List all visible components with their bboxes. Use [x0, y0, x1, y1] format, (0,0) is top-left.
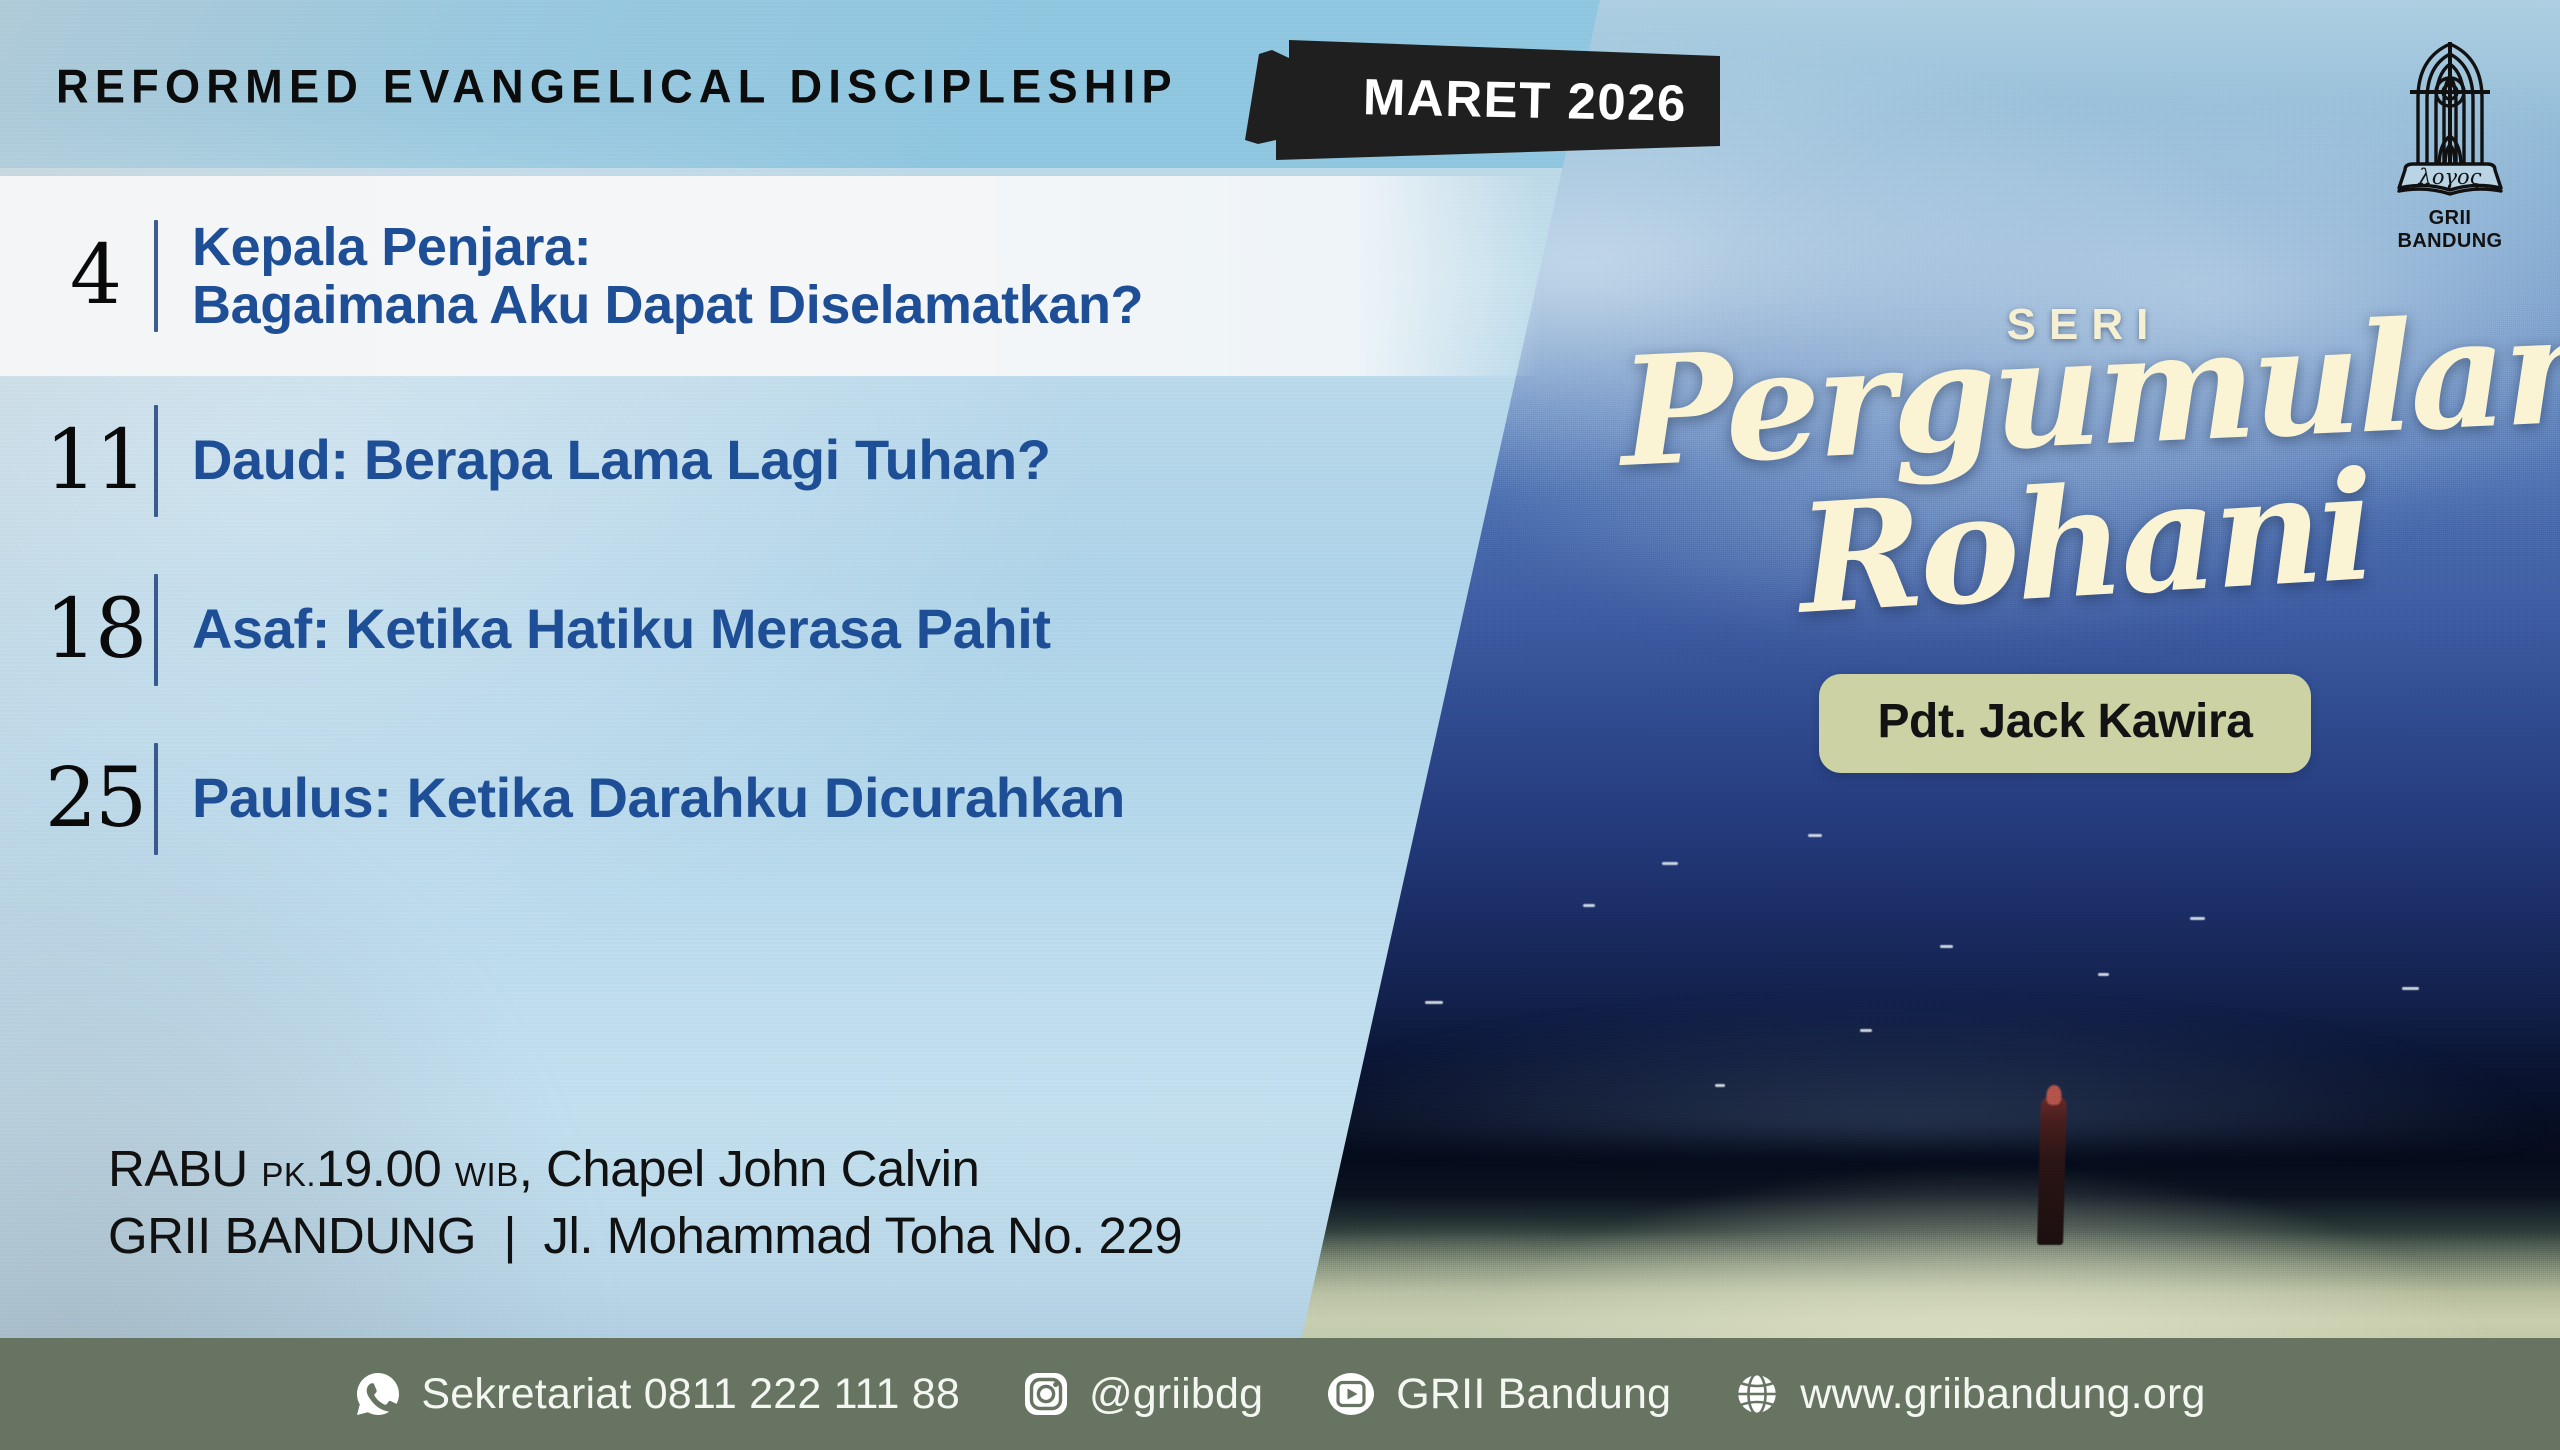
- footer-label: GRII Bandung: [1396, 1370, 1671, 1419]
- venue-day: RABU: [108, 1140, 248, 1197]
- row-divider: [154, 574, 158, 686]
- footer-item-website[interactable]: www.griibandung.org: [1733, 1370, 2205, 1419]
- schedule-title-rest: Ketika Hatiku Merasa Pahit: [330, 597, 1051, 660]
- logo-caption: GRII BANDUNG: [2376, 207, 2524, 253]
- schedule-row[interactable]: 18 Asaf: Ketika Hatiku Merasa Pahit: [0, 545, 1540, 714]
- venue-time: 19.00: [316, 1140, 441, 1197]
- footer-label: www.griibandung.org: [1800, 1370, 2205, 1419]
- venue-church: GRII BANDUNG: [108, 1207, 476, 1264]
- venue-address-line: GRII BANDUNG | Jl. Mohammad Toha No. 229: [108, 1202, 1182, 1269]
- schedule-title: Daud: Berapa Lama Lagi Tuhan?: [192, 430, 1051, 490]
- globe-icon: [1733, 1370, 1781, 1418]
- schedule-title-line1: Kepala Penjara:: [192, 218, 1143, 276]
- speaker-badge: Pdt. Jack Kawira: [1819, 674, 2310, 773]
- series-title-line1: Pergumulan: [1617, 304, 2502, 482]
- schedule-title: Asaf: Ketika Hatiku Merasa Pahit: [192, 599, 1051, 659]
- schedule-title-lead: Asaf:: [192, 597, 330, 660]
- logo-greek-word: λογος: [2418, 165, 2482, 189]
- footer-label: @griibdg: [1089, 1370, 1263, 1419]
- youtube-icon: [1325, 1370, 1377, 1418]
- schedule-title: Kepala Penjara: Bagaimana Aku Dapat Dise…: [192, 218, 1143, 335]
- row-divider: [154, 405, 158, 517]
- schedule-row[interactable]: 11 Daud: Berapa Lama Lagi Tuhan?: [0, 376, 1540, 545]
- schedule-title-line2: Bagaimana Aku Dapat Diselamatkan?: [192, 276, 1143, 334]
- month-badge: MARET 2026: [1245, 40, 1720, 160]
- schedule-row[interactable]: 25 Paulus: Ketika Darahku Dicurahkan: [0, 714, 1540, 883]
- poster-root: REFORMED EVANGELICAL DISCIPLESHIP MARET …: [0, 0, 2560, 1450]
- schedule-title-lead: Daud:: [192, 428, 349, 491]
- footer-item-instagram[interactable]: @griibdg: [1022, 1370, 1263, 1419]
- footer-item-whatsapp[interactable]: Sekretariat 0811 222 111 88: [354, 1370, 960, 1419]
- schedule-day-number: 4: [36, 235, 154, 317]
- venue-time-line: RABU PK.19.00 WIB, Chapel John Calvin: [108, 1135, 1182, 1202]
- schedule-row[interactable]: 4 Kepala Penjara: Bagaimana Aku Dapat Di…: [0, 176, 1540, 376]
- instagram-icon: [1022, 1370, 1070, 1418]
- footer-contact-bar: Sekretariat 0811 222 111 88 @griibdg GRI…: [0, 1338, 2560, 1450]
- schedule-day-number: 11: [36, 420, 154, 502]
- row-divider: [154, 220, 158, 332]
- schedule-day-number: 18: [36, 589, 154, 671]
- schedule-title-lead: Paulus:: [192, 766, 391, 829]
- schedule-title-rest: Ketika Darahku Dicurahkan: [391, 766, 1124, 829]
- footer-item-youtube[interactable]: GRII Bandung: [1325, 1370, 1671, 1419]
- grii-logo: λογος GRII BANDUNG: [2376, 36, 2524, 250]
- schedule-title-rest: Berapa Lama Lagi Tuhan?: [349, 428, 1051, 491]
- venue-info: RABU PK.19.00 WIB, Chapel John Calvin GR…: [108, 1135, 1182, 1270]
- footer-label: Sekretariat 0811 222 111 88: [421, 1370, 960, 1419]
- grii-tower-cross-book-logo: λογος: [2387, 36, 2513, 206]
- header-bar: REFORMED EVANGELICAL DISCIPLESHIP MARET …: [0, 0, 1600, 176]
- venue-place: , Chapel John Calvin: [519, 1140, 980, 1197]
- venue-divider: |: [503, 1207, 516, 1264]
- whatsapp-icon: [354, 1370, 402, 1418]
- schedule-list: 4 Kepala Penjara: Bagaimana Aku Dapat Di…: [0, 176, 1540, 883]
- schedule-day-number: 25: [36, 758, 154, 840]
- venue-address: Jl. Mohammad Toha No. 229: [543, 1207, 1182, 1264]
- venue-time-prefix: PK.: [261, 1156, 316, 1193]
- schedule-title: Paulus: Ketika Darahku Dicurahkan: [192, 768, 1125, 828]
- row-divider: [154, 743, 158, 855]
- month-badge-label: MARET 2026: [1362, 67, 1687, 133]
- series-title-block: SERI Pergumulan Rohani Pdt. Jack Kawira: [1620, 300, 2500, 773]
- venue-timezone: WIB: [455, 1156, 519, 1193]
- page-title: REFORMED EVANGELICAL DISCIPLESHIP: [56, 59, 1178, 114]
